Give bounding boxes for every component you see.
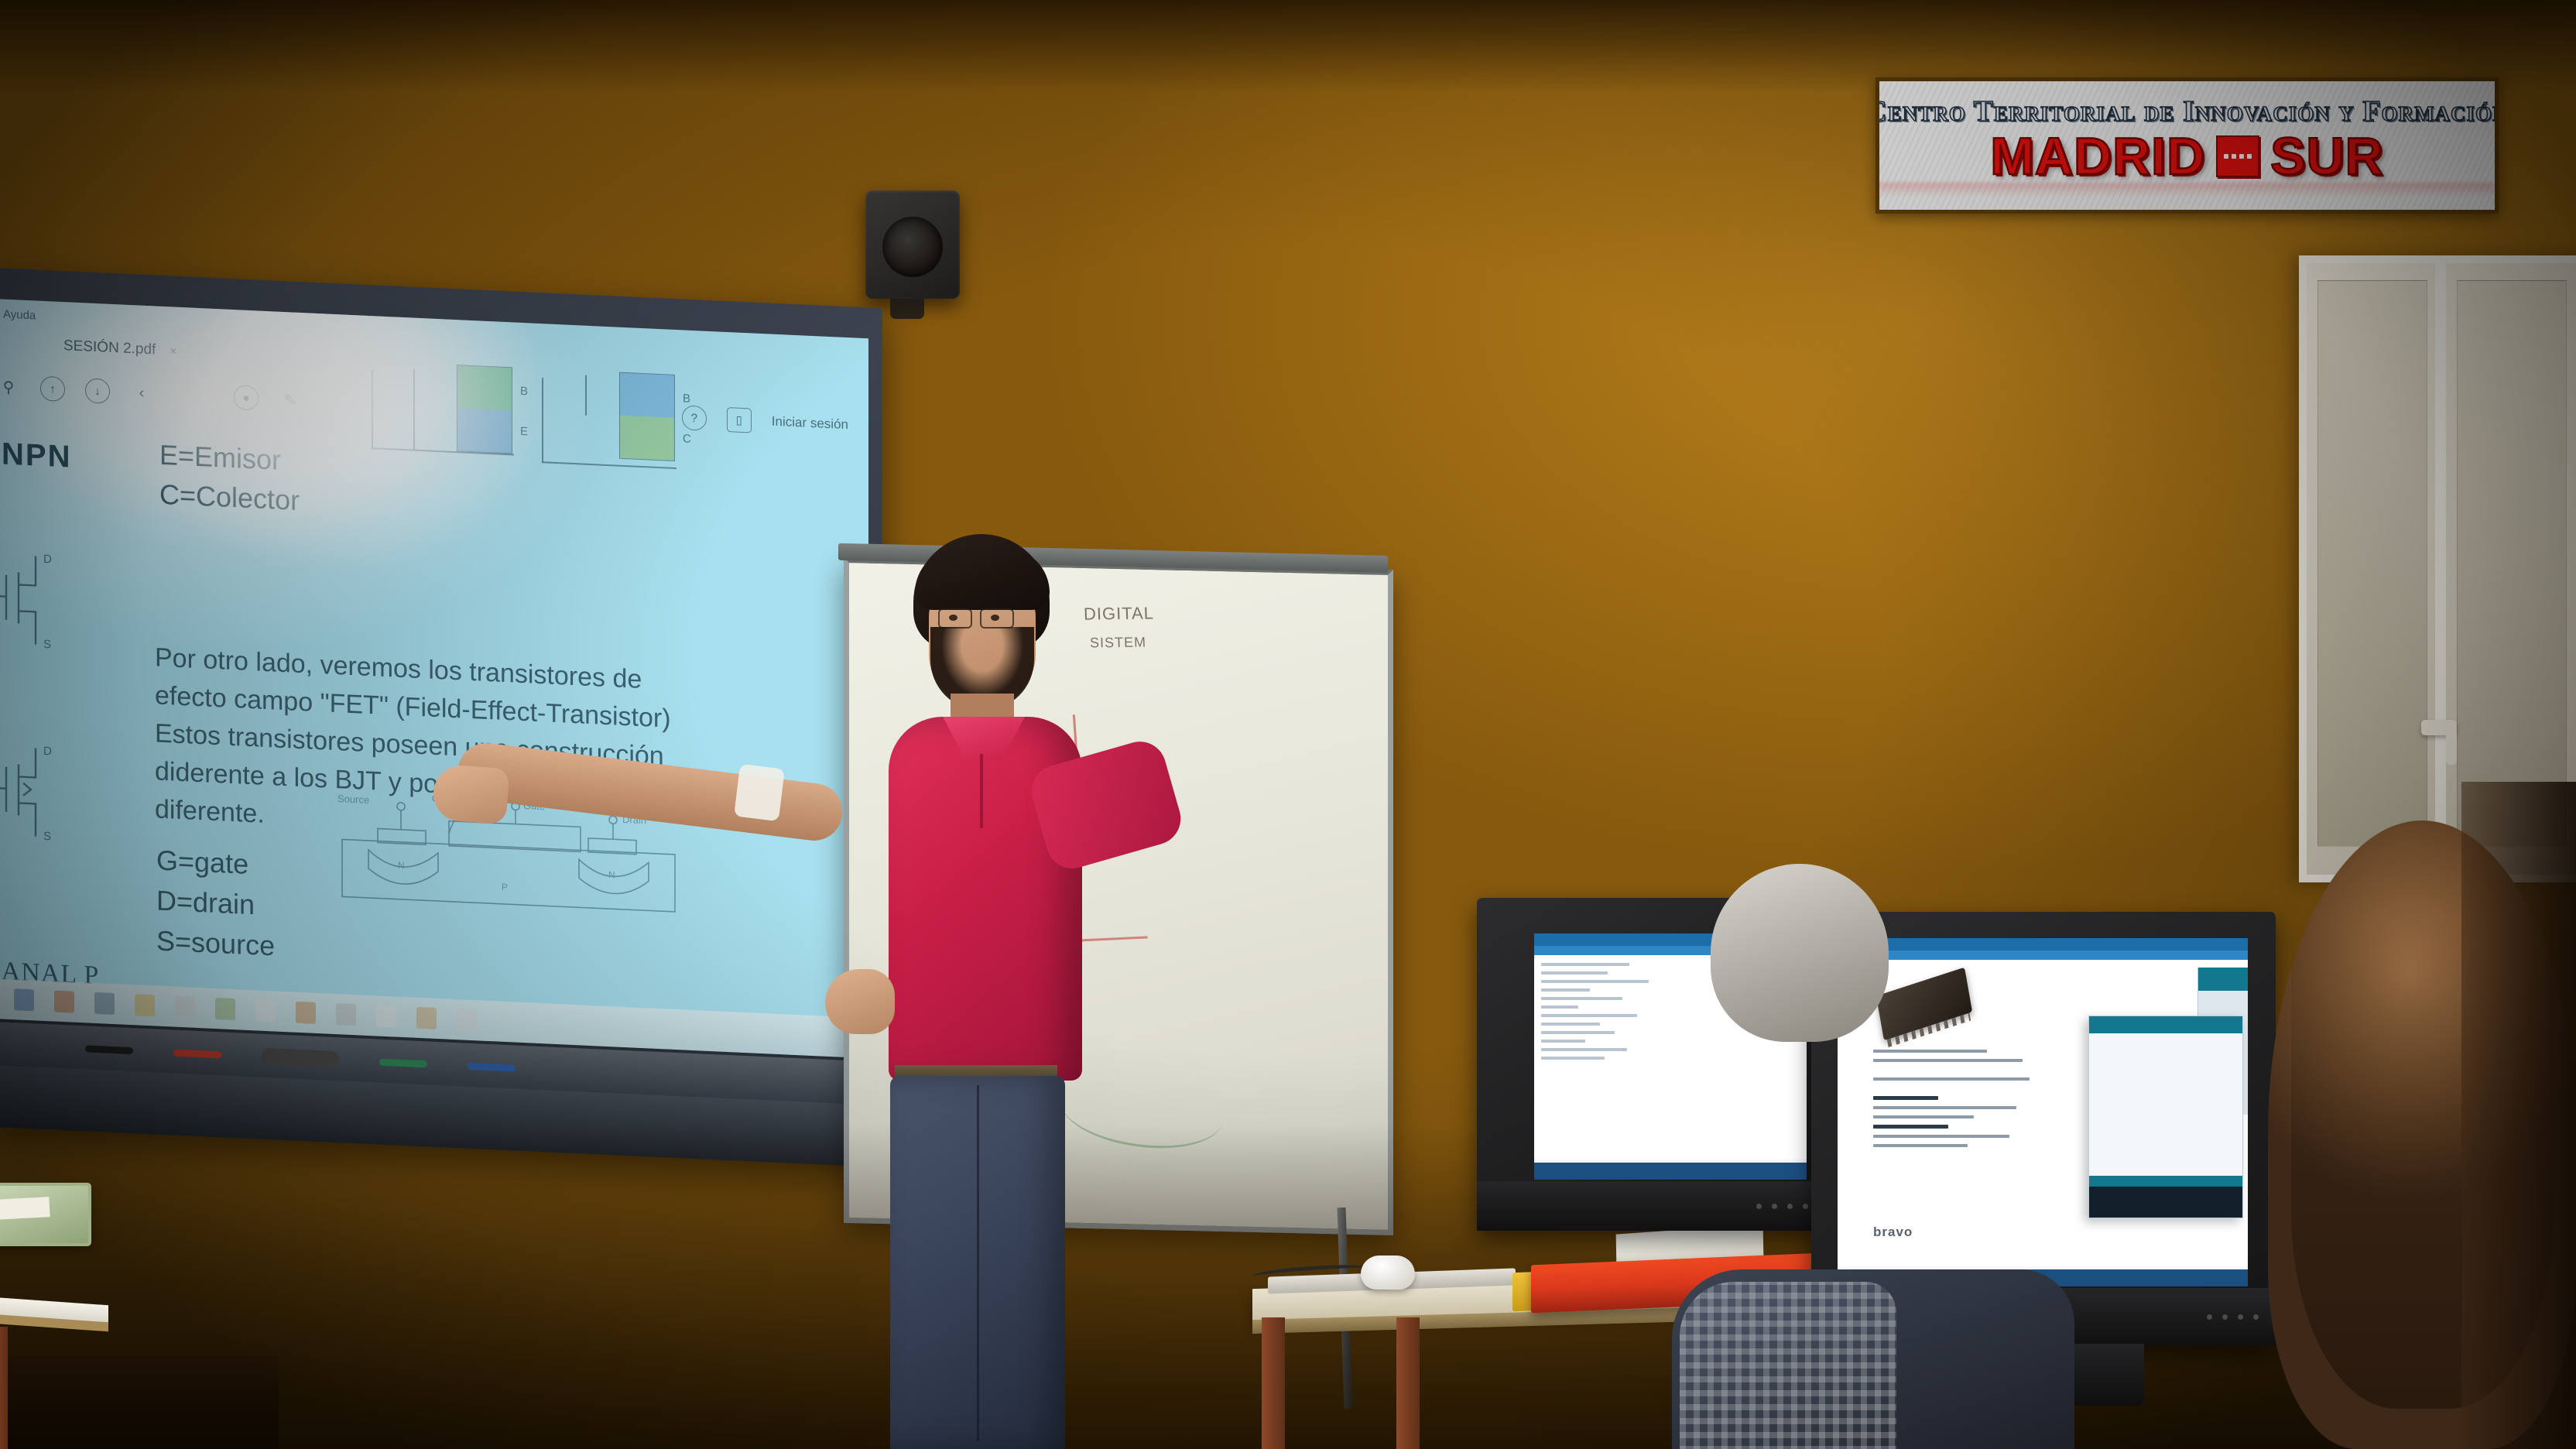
product-description-text <box>1873 1050 2036 1153</box>
ctif-madrid-sur-logo: Centro Territorial de Innovación y Forma… <box>1875 77 2499 214</box>
mosfet-symbol-n: D S <box>0 548 88 661</box>
pen-green[interactable] <box>379 1058 427 1067</box>
bjt-label-b: B <box>520 385 528 398</box>
site-brandmark: bravo <box>1873 1225 1913 1240</box>
svg-text:D: D <box>43 745 52 758</box>
popup-titlebar[interactable] <box>2089 1016 2242 1033</box>
taskbar-icon[interactable] <box>376 1005 396 1027</box>
student-back-head <box>1711 864 1889 1042</box>
madrid-community-icon <box>2216 135 2259 177</box>
presenter-eye-left <box>949 615 957 621</box>
document-text-lines <box>1541 963 1663 1065</box>
eraser[interactable] <box>262 1048 339 1069</box>
door-glass-left <box>2317 280 2427 847</box>
taskbar-icon[interactable] <box>94 992 115 1015</box>
presenter-fringe <box>915 548 1050 610</box>
door-mullion <box>2435 263 2446 875</box>
popup-footer <box>2089 1176 2242 1218</box>
svg-text:N: N <box>608 869 615 880</box>
presenter <box>797 534 1122 1449</box>
logo-line1: Centro Territorial de Innovación y Forma… <box>1875 94 2499 128</box>
tray-paper <box>0 1197 50 1220</box>
pen-red[interactable] <box>173 1049 221 1058</box>
interactive-whiteboard[interactable]: Ayuda SESIÓN 2.pdf × ⚲ ↑ ↓ ‹ ● ✎ ? ▯ Ini… <box>0 268 882 1167</box>
bjt-label-c: C <box>683 432 691 445</box>
taskbar-icon[interactable] <box>416 1007 437 1029</box>
legend-drain: D=drain <box>156 881 275 927</box>
window-titlebar[interactable] <box>1838 938 2248 951</box>
mosfet-symbol-p: D S <box>0 740 88 853</box>
integrated-circuit-image <box>1876 968 1972 1041</box>
legend-colector: C=Colector <box>159 474 300 520</box>
student-back <box>1711 864 1889 1042</box>
mouse[interactable] <box>1361 1255 1415 1290</box>
taskbar-icon[interactable] <box>14 988 34 1011</box>
taskbar-icon[interactable] <box>175 996 195 1019</box>
svg-text:P: P <box>502 882 508 892</box>
svg-text:S: S <box>43 638 51 651</box>
classroom-photo: Centro Territorial de Innovación y Forma… <box>0 0 2576 1449</box>
bjt-block <box>457 365 512 454</box>
wall-speaker <box>865 190 960 299</box>
student-checked-shirt <box>1680 1282 1896 1449</box>
presenter-other-hand <box>825 969 895 1034</box>
bjt-label-e: E <box>520 425 528 438</box>
presenter-eye-right <box>991 615 999 621</box>
presenter-wrist-cuff <box>734 764 785 822</box>
student-right-edge <box>2461 782 2576 1449</box>
taskbar-icon[interactable] <box>54 991 74 1013</box>
browser-window[interactable]: bravo <box>1838 938 2248 1286</box>
pen-black[interactable] <box>85 1045 133 1054</box>
desk-leg <box>1262 1317 1285 1449</box>
taskbar-icon[interactable] <box>296 1002 316 1024</box>
monitor-left-chin <box>1477 1181 1825 1231</box>
presenter-pointing-hand <box>432 764 510 825</box>
taskbar-icon[interactable] <box>215 998 235 1020</box>
logo-word-madrid: MADRID <box>1990 130 2205 183</box>
green-tray <box>0 1183 91 1246</box>
side-desk-leg <box>0 1327 8 1449</box>
taskbar-icon[interactable] <box>336 1003 356 1026</box>
bjt-label-b2: B <box>683 392 690 405</box>
pen-blue[interactable] <box>468 1062 516 1071</box>
projected-screen[interactable]: Ayuda SESIÓN 2.pdf × ⚲ ↑ ↓ ‹ ● ✎ ? ▯ Ini… <box>0 299 868 1058</box>
logo-wordmark: MADRID SUR <box>1990 130 2384 183</box>
desk-leg <box>1396 1317 1420 1449</box>
logo-word-sur: SUR <box>2270 130 2384 183</box>
taskbar-icon[interactable] <box>457 1009 477 1031</box>
legend-gate: G=gate <box>156 841 275 886</box>
slide-legend-top: E=Emisor C=Colector <box>159 435 300 520</box>
bjt-diagram-pnp: B C <box>619 372 675 461</box>
taskbar-icon[interactable] <box>255 999 276 1022</box>
bjt-diagram-npn: B E <box>457 365 512 454</box>
door-handle[interactable] <box>2421 720 2457 735</box>
legend-emisor: E=Emisor <box>159 435 300 481</box>
logo-reflection <box>1879 183 2495 197</box>
slide-heading-npn: NPN <box>2 437 71 474</box>
door-glass-right <box>2457 280 2567 847</box>
presenter-placket <box>980 754 983 828</box>
speaker-cone-icon <box>882 217 943 277</box>
window-statusbar <box>1534 1163 1807 1180</box>
side-desk <box>0 1300 108 1449</box>
presenter-trouser-seam <box>977 1085 979 1441</box>
legend-source: S=source <box>156 921 275 967</box>
window-content[interactable]: bravo <box>1838 960 2248 1266</box>
speaker-mount <box>890 299 924 319</box>
slide-legend-bottom: G=gate D=drain S=source <box>156 841 275 968</box>
svg-text:D: D <box>43 553 52 566</box>
bjt-block <box>619 372 675 461</box>
monitor-right-buttons[interactable] <box>2207 1314 2259 1320</box>
taskbar-icon[interactable] <box>135 994 155 1016</box>
svg-text:Source: Source <box>337 793 369 806</box>
window-tabstrip[interactable] <box>1838 951 2248 960</box>
svg-text:S: S <box>43 830 51 843</box>
popup-window[interactable] <box>2088 1016 2243 1218</box>
monitor-left-buttons[interactable] <box>1756 1204 1808 1209</box>
pdf-slide: NPN CANAL P E=Emisor C=Colector Por otro… <box>0 299 868 1058</box>
svg-text:N: N <box>398 860 405 871</box>
monitor-right-screen[interactable]: bravo <box>1838 938 2248 1286</box>
